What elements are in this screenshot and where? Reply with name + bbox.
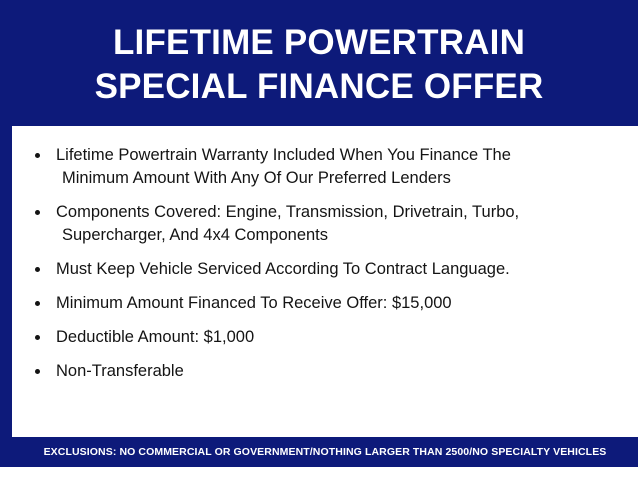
- bullet-text-line-1: Minimum Amount Financed To Receive Offer…: [56, 294, 452, 312]
- bullet-dot-icon: [35, 153, 40, 158]
- exclusions-text: EXCLUSIONS: NO COMMERCIAL OR GOVERNMENT/…: [44, 446, 607, 458]
- bullet-text: Lifetime Powertrain Warranty Included Wh…: [56, 144, 624, 190]
- bullet-text-line-1: Deductible Amount: $1,000: [56, 328, 254, 346]
- list-item: Deductible Amount: $1,000: [26, 326, 624, 349]
- bullet-text: Non-Transferable: [56, 360, 624, 383]
- slide-footer: EXCLUSIONS: NO COMMERCIAL OR GOVERNMENT/…: [12, 437, 638, 467]
- bullet-dot-icon: [35, 267, 40, 272]
- list-item: Minimum Amount Financed To Receive Offer…: [26, 292, 624, 315]
- slide-title-line-1: LIFETIME POWERTRAIN: [113, 21, 525, 65]
- bullet-text-line-2: Minimum Amount With Any Of Our Preferred…: [56, 167, 624, 190]
- bullet-dot-icon: [35, 369, 40, 374]
- list-item: Lifetime Powertrain Warranty Included Wh…: [26, 144, 624, 190]
- slide-header: LIFETIME POWERTRAIN SPECIAL FINANCE OFFE…: [0, 0, 638, 126]
- bullet-text-line-2: Supercharger, And 4x4 Components: [56, 224, 624, 247]
- bullet-dot-icon: [35, 301, 40, 306]
- bullet-text-line-1: Lifetime Powertrain Warranty Included Wh…: [56, 146, 511, 164]
- slide-canvas: LIFETIME POWERTRAIN SPECIAL FINANCE OFFE…: [0, 0, 638, 479]
- list-item: Components Covered: Engine, Transmission…: [26, 201, 624, 247]
- slide-title-line-2: SPECIAL FINANCE OFFER: [95, 65, 544, 109]
- bullet-text-line-1: Non-Transferable: [56, 362, 184, 380]
- bullet-text: Components Covered: Engine, Transmission…: [56, 201, 624, 247]
- bullet-text: Minimum Amount Financed To Receive Offer…: [56, 292, 624, 315]
- bullet-text-line-1: Components Covered: Engine, Transmission…: [56, 203, 519, 221]
- list-item: Must Keep Vehicle Serviced According To …: [26, 258, 624, 281]
- bullet-dot-icon: [35, 210, 40, 215]
- list-item: Non-Transferable: [26, 360, 624, 383]
- bullet-text-line-1: Must Keep Vehicle Serviced According To …: [56, 260, 510, 278]
- bullet-text: Deductible Amount: $1,000: [56, 326, 624, 349]
- bottom-spacer: [0, 467, 638, 479]
- bullet-text: Must Keep Vehicle Serviced According To …: [56, 258, 624, 281]
- slide-body: Lifetime Powertrain Warranty Included Wh…: [12, 126, 638, 426]
- bullet-dot-icon: [35, 335, 40, 340]
- bullet-list: Lifetime Powertrain Warranty Included Wh…: [26, 144, 624, 383]
